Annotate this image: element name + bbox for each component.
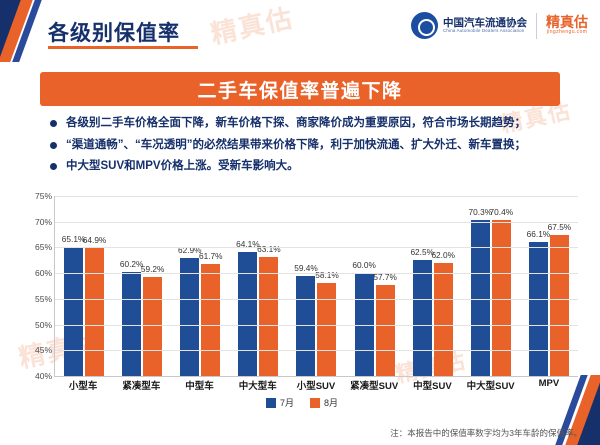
bar-group: 59.4%58.1%: [287, 196, 345, 376]
bar-groups: 65.1%64.9%60.2%59.2%62.9%61.7%64.1%63.1%…: [55, 196, 578, 376]
bar-chart: 75%70%65%60%55%50%45%40% 65.1%64.9%60.2%…: [22, 196, 582, 401]
bar-group: 60.2%59.2%: [113, 196, 171, 376]
bar-value-label: 62.5%: [410, 247, 434, 257]
bullet-text: “渠道通畅”、“车况透明”的必然结果带来价格下降，利于加快流通、扩大外迁、新车置…: [66, 138, 526, 154]
bar-value-label: 66.1%: [527, 229, 551, 239]
x-axis-tick: 紧凑型车: [112, 378, 170, 392]
bullet-dot-icon: [50, 163, 57, 170]
list-item: “渠道通畅”、“车况透明”的必然结果带来价格下降，利于加快流通、扩大外迁、新车置…: [40, 138, 560, 154]
x-axis-tick: 紧凑型SUV: [345, 378, 403, 392]
bar: 58.1%: [317, 283, 336, 376]
bar-group: 62.9%61.7%: [171, 196, 229, 376]
section-banner: 二手车保值率普遍下降: [40, 72, 560, 106]
jingzhengu-logo: 精真估 jingzhengu.com: [546, 15, 588, 36]
bar-group: 66.1%67.5%: [520, 196, 578, 376]
legend-item[interactable]: 8月: [310, 396, 338, 409]
bar: 65.1%: [64, 247, 83, 376]
bar-value-label: 60.2%: [120, 259, 144, 269]
x-axis-tick: 中大型SUV: [462, 378, 520, 392]
footnote: 注：本报告中的保值率数字均为3年车龄的保值率。: [390, 427, 582, 439]
y-axis-tick: 55%: [35, 294, 52, 304]
x-axis-labels: 小型车紧凑型车中型车中大型车小型SUV紧凑型SUV中型SUV中大型SUVMPV: [54, 378, 578, 392]
y-axis-tick: 70%: [35, 217, 52, 227]
bar-group: 70.3%70.4%: [462, 196, 520, 376]
bar-value-label: 58.1%: [315, 270, 339, 280]
grid-line: [55, 222, 578, 223]
grid-line: [55, 247, 578, 248]
cada-emblem-icon: [411, 12, 438, 39]
x-axis-tick: MPV: [520, 378, 578, 392]
bar-group: 62.5%62.0%: [404, 196, 462, 376]
bar: 59.2%: [143, 277, 162, 376]
legend-swatch-icon: [310, 398, 320, 408]
bullet-text: 各级别二手车价格全面下降，新车价格下探、商家降价成为重要原因，符合市场长期趋势；: [66, 116, 526, 132]
y-axis-tick: 45%: [35, 345, 52, 355]
logo-divider: [536, 13, 537, 39]
y-axis-tick: 40%: [35, 371, 52, 381]
list-item: 各级别二手车价格全面下降，新车价格下探、商家降价成为重要原因，符合市场长期趋势；: [40, 116, 560, 132]
y-axis-tick: 60%: [35, 268, 52, 278]
cada-name-en: China Automobile Dealers Association: [443, 29, 527, 34]
bar-value-label: 60.0%: [352, 260, 376, 270]
bar-value-label: 70.4%: [490, 207, 514, 217]
bar: 59.4%: [296, 276, 315, 376]
bar: 64.1%: [238, 252, 257, 376]
bar-value-label: 61.7%: [199, 251, 223, 261]
bar-value-label: 70.3%: [469, 207, 493, 217]
grid-line: [55, 350, 578, 351]
bar-value-label: 59.4%: [294, 263, 318, 273]
y-axis-tick: 65%: [35, 242, 52, 252]
page-title: 各级别保值率: [48, 17, 180, 47]
bar-value-label: 65.1%: [62, 234, 86, 244]
bar: 64.9%: [85, 248, 104, 376]
legend-item[interactable]: 7月: [266, 396, 294, 409]
bar-value-label: 64.9%: [83, 235, 107, 245]
bar-group: 64.1%63.1%: [229, 196, 287, 376]
bullet-text: 中大型SUV和MPV价格上涨。受新车影响大。: [66, 159, 299, 175]
logo-block: 中国汽车流通协会 China Automobile Dealers Associ…: [411, 12, 588, 39]
x-axis-tick: 小型SUV: [287, 378, 345, 392]
bar: 61.7%: [201, 264, 220, 376]
bar: 66.1%: [529, 242, 548, 376]
bullet-list: 各级别二手车价格全面下降，新车价格下探、商家降价成为重要原因，符合市场长期趋势；…: [40, 116, 560, 181]
y-axis-tick: 75%: [35, 191, 52, 201]
x-axis-tick: 中大型车: [229, 378, 287, 392]
grid-line: [55, 196, 578, 197]
grid-line: [55, 299, 578, 300]
bar-value-label: 67.5%: [548, 222, 572, 232]
grid-line: [55, 273, 578, 274]
y-axis-labels: 75%70%65%60%55%50%45%40%: [22, 196, 52, 376]
list-item: 中大型SUV和MPV价格上涨。受新车影响大。: [40, 159, 560, 175]
bullet-dot-icon: [50, 142, 57, 149]
bar: 62.5%: [413, 260, 432, 376]
bar-value-label: 62.0%: [431, 250, 455, 260]
plot-area: 65.1%64.9%60.2%59.2%62.9%61.7%64.1%63.1%…: [54, 196, 578, 377]
chart-legend: 7月8月: [22, 396, 582, 409]
title-underline: [48, 46, 198, 49]
jzg-name-en: jingzhengu.com: [546, 30, 588, 36]
jzg-name-cn: 精真估: [546, 15, 588, 30]
x-axis-tick: 中型车: [170, 378, 228, 392]
bar: 70.4%: [492, 220, 511, 376]
legend-swatch-icon: [266, 398, 276, 408]
y-axis-tick: 50%: [35, 320, 52, 330]
bullet-dot-icon: [50, 120, 57, 127]
cada-logo: 中国汽车流通协会 China Automobile Dealers Associ…: [411, 12, 527, 39]
bar: 62.0%: [434, 263, 453, 376]
grid-line: [55, 325, 578, 326]
page-header: 各级别保值率 中国汽车流通协会 China Automobile Dealers…: [0, 0, 600, 60]
bar-group: 65.1%64.9%: [55, 196, 113, 376]
legend-label: 7月: [280, 396, 294, 409]
bar-group: 60.0%57.7%: [346, 196, 404, 376]
legend-label: 8月: [324, 396, 338, 409]
bar: 62.9%: [180, 258, 199, 376]
bar: 63.1%: [259, 257, 278, 376]
bar-value-label: 63.1%: [257, 244, 281, 254]
x-axis-tick: 中型SUV: [403, 378, 461, 392]
section-banner-label: 二手车保值率普遍下降: [197, 76, 402, 103]
bar: 67.5%: [550, 235, 569, 376]
x-axis-tick: 小型车: [54, 378, 112, 392]
